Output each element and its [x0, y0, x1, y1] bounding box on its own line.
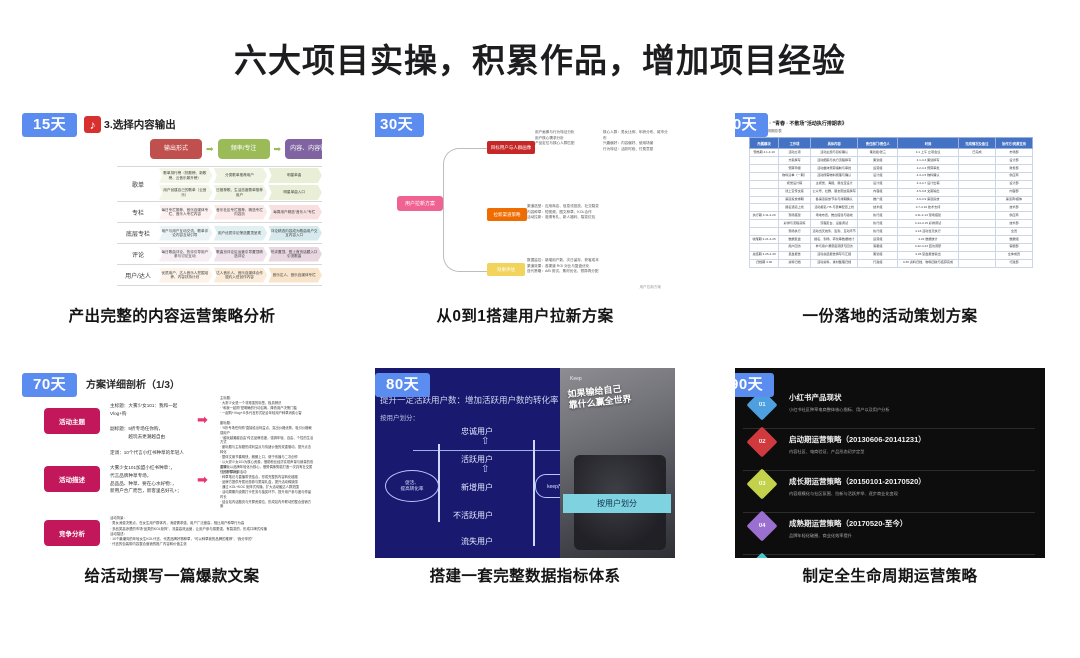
table-cell: 彩排与流程演练: [779, 220, 811, 228]
thumbnail-content-strategy[interactable]: 15天 ♪ 3.选择内容输出 输出形式 ➡ 频率/专注 ➡ 内容、内容需求: [22, 108, 322, 298]
table-cell: [958, 164, 995, 172]
mindmap-node-evaluation: 效果评估: [487, 263, 525, 276]
day-badge: 15天: [22, 113, 77, 137]
table-cell: 内容部: [995, 188, 1032, 196]
table-cell: [750, 204, 779, 212]
table-row: 渠道投放排期各渠道投放节奏与排期确认推广组4.6-4.9 渠道投放渠道商/媒体: [750, 196, 1033, 204]
arrow-icon: ➡: [206, 144, 214, 155]
tier-loyal-user: 忠诚用户: [461, 426, 493, 437]
tier-inactive-user: 不活跃用户: [453, 510, 493, 521]
table-row: 用户/达人 优质用户、达人音乐人挖掘培养、内容扶持计划 达人音乐人、音乐自媒体合…: [117, 264, 322, 286]
table-cell: 各渠道投放节奏与排期确认: [810, 196, 858, 204]
table-cell: 全体成员: [995, 251, 1032, 259]
table-cell: [958, 180, 995, 188]
middle-text: 大雾少女101加盟小红书种草：， 代言品牌种草专场， 品品品、种草、要在心水好物…: [110, 464, 192, 495]
card-30-days[interactable]: 30天 用户拉新方案 目标用户与人群画像 拉新渠道策略 效果评估 用户画像与行为…: [375, 108, 675, 298]
table-cell: 4.14-4.15 彩排调试: [898, 220, 959, 228]
annotation-oval: 促活、 提高转化率: [385, 470, 439, 502]
table-row: 底层专栏 用户与用户互动交流，歌单评论内容互动引导 用户优质评论筛选置顶呈现 评…: [117, 222, 322, 243]
table-cell: 4.21 数据统计: [898, 235, 959, 243]
table-cell: [958, 204, 995, 212]
keep-logo: Keep: [570, 376, 582, 382]
mindmap-footer: 用户拉新方案: [639, 285, 661, 290]
table-row: 预热期 4.1-4.10活动立项活动主题与目标确认策划组/张三4.1 上午 立项…: [750, 149, 1033, 157]
thumbnail-user-acquisition-mindmap[interactable]: 30天 用户拉新方案 目标用户与人群画像 拉新渠道策略 效果评估 用户画像与行为…: [375, 108, 675, 298]
table-cell: 4.30 资料归档、物料回收与结算完成: [898, 259, 959, 267]
table-header-row: 所属模块 工作项 具体内容 责任部门/责任人 时间 完成情况及备注 协作方/资源…: [750, 138, 1033, 149]
row-label: 底层专栏: [117, 223, 159, 243]
table-cell: 活动主题与目标确认: [810, 149, 858, 157]
day-badge: 80天: [375, 373, 430, 397]
table-cell: 执行组: [858, 228, 898, 236]
diamond-marker-icon: 03: [746, 468, 777, 499]
table-cell: 参与用户满意度调研与回访: [810, 243, 858, 251]
thumbnail-lifecycle-strategy[interactable]: 90天 01小红书产品现状小红书社区种草电商整体核心指标、用户以及用户分析02启…: [735, 368, 1045, 558]
mindmap-core-node: 用户拉新方案: [397, 196, 443, 211]
table-cell: 活动总结报告撰写与汇报: [810, 251, 858, 259]
table-cell: [958, 157, 995, 165]
row-label: 评论: [117, 244, 159, 264]
column-header: 责任部门/责任人: [858, 138, 898, 149]
table-cell: 4.5-4.8 文案输出: [898, 188, 959, 196]
list-item[interactable]: 03成长期运营策略（20150101-20170520）内容规模化与社区氛围、拉…: [743, 470, 1035, 512]
table-row: 收尾期 4.21-4.25数据复盘报名、到场、转化等数据统计运营组4.21 数据…: [750, 235, 1033, 243]
table-row: 归档期 4.30资料归档活动资料、素材整理归档行政组4.30 资料归档、物料回收…: [750, 259, 1033, 267]
table-cell: 4.3-4.5 物料确认: [898, 172, 959, 180]
tier-churned-user: 流失用户: [461, 536, 493, 547]
column-header: 工作项: [779, 138, 811, 149]
table-cell: 技术组: [858, 204, 898, 212]
table-cell: 客服部: [995, 243, 1032, 251]
table-row: 专栏 每日专栏推荐、音乐自媒体专栏、音乐人专栏内容 音乐社区专栏推荐、精选专栏内…: [117, 201, 322, 222]
table-cell: 线上宣传文案: [779, 188, 811, 196]
mindmap-text: 用户画像与行为特征分析 用户核心需求分析 产品定位与核心人群匹配: [535, 130, 595, 147]
chevron-cell: 每周用户精选“音乐人”专栏: [268, 205, 322, 220]
chevron-cell: 音乐达人、音乐自媒体专栏: [268, 268, 322, 283]
table-cell: [958, 228, 995, 236]
list-item-number: 01: [759, 402, 766, 408]
table-cell: 活动当天统筹、签到、互动环节: [810, 228, 858, 236]
thumbnail-copywriting-breakdown[interactable]: 70天 方案详细剖析（1/3） 活动主题 活动描述 竞争分析 主标题：大雾少女1…: [22, 368, 322, 558]
table-cell: 4.6-4.9 渠道投放: [898, 196, 959, 204]
table-cell: 数据组: [995, 235, 1032, 243]
tier-new-user: 新增用户: [461, 482, 493, 493]
photo-slogan: 如果输给自己 靠什么赢全世界: [567, 379, 670, 412]
card-80-days[interactable]: 80天 提升一定活跃用户数：增加活跃用户数的转化率 按用户划分： ⇧ ⇧ 忠诚用…: [375, 368, 675, 558]
table-cell: 主视觉、海报、易拉宝设计: [810, 180, 858, 188]
table-cell: 设计部: [995, 157, 1032, 165]
mindmap-text: 渠道选型：应用商店、信息流投放、社交裂变 内容种草：短视频、图文种草、KOL合作…: [527, 204, 667, 221]
table-cell: 4.16 活动当天执行: [898, 228, 959, 236]
row-label: 专栏: [117, 202, 159, 222]
table-cell: 报名通道上线: [779, 204, 811, 212]
table-cell: 用户回访: [779, 243, 811, 251]
table-cell: 已完成: [958, 149, 995, 157]
flow-box-content-need: 内容、内容需求: [285, 139, 322, 159]
chevron-cell: 评论精选内容成为歌曲用户交互内容入口: [268, 226, 322, 241]
pill-activity-description: 活动描述: [44, 466, 100, 492]
table-cell: 报名、到场、转化等数据统计: [810, 235, 858, 243]
slide-title: 方案详细剖析（1/3）: [86, 376, 180, 391]
schedule-table: 所属模块 工作项 具体内容 责任部门/责任人 时间 完成情况及备注 协作方/资源…: [749, 137, 1033, 268]
table-cell: 活动细案与执行流程撰写: [810, 157, 858, 165]
list-item-description: 内容社区、电商验证、产品形态初步定型: [789, 449, 1035, 455]
diamond-marker-icon: 05: [746, 552, 777, 558]
card-70-days[interactable]: 70天 方案详细剖析（1/3） 活动主题 活动描述 竞争分析 主标题：大雾少女1…: [22, 368, 322, 558]
tier-active-user: 活跃用户: [461, 454, 493, 465]
table-cell: 客服组: [858, 243, 898, 251]
row-label: 歌单: [117, 167, 159, 201]
table-cell: 执行期 4.11-4.20: [750, 212, 779, 220]
table-cell: 4.22-4.23 回访调研: [898, 243, 959, 251]
table-cell: 供应商: [995, 172, 1032, 180]
ribbon-label: 按用户划分: [563, 494, 671, 513]
card-caption: 一份落地的活动策划方案: [735, 304, 1045, 326]
table-cell: 财务部: [995, 164, 1032, 172]
card-90-days[interactable]: 90天 01小红书产品现状小红书社区种草电商整体核心指标、用户以及用户分析02启…: [735, 368, 1045, 558]
table-cell: 执行组: [858, 212, 898, 220]
chevron-cell: 用户优质评论筛选置顶呈现: [214, 226, 268, 241]
list-item[interactable]: 05总结与建议再次回顾小红书全周期用户与内容策略，提出可落地建议: [743, 554, 1035, 558]
table-row: 方案撰写活动细案与执行流程撰写策划组4.1-4.3 策划撰写设计部: [750, 157, 1033, 165]
netease-music-icon: ♪: [84, 116, 101, 133]
table-row: 彩排与流程演练流程走台、设备调试执行组4.14-4.15 彩排调试技术部: [750, 220, 1033, 228]
table-cell: 技术部: [995, 220, 1032, 228]
slide-page: 六大项目实操，积累作品，增加项目经验 15天 ♪ 3.选择内容输出 输出形式 ➡…: [0, 0, 1080, 658]
middle-text: 主标题：大雾少女101：我和一起Vlog+购 副标题：5折专场任你购， 越玩去更…: [110, 402, 192, 457]
card-15-days[interactable]: 15天 ♪ 3.选择内容输出 输出形式 ➡ 频率/专注 ➡ 内容、内容需求: [22, 108, 322, 298]
table-cell: 归档期 4.30: [750, 259, 779, 267]
chevron-cell: 明星单曲入口: [268, 185, 322, 200]
table-cell: 资料归档: [779, 259, 811, 267]
card-caption: 从0到1搭建用户拉新方案: [375, 304, 675, 326]
card-caption: 搭建一套完整数据指标体系: [375, 564, 675, 586]
chevron-cell: 每日专栏推荐、音乐自媒体专栏、音乐人专栏内容: [159, 205, 213, 220]
table-cell: [750, 188, 779, 196]
table-cell: [958, 243, 995, 251]
user-tier-diagram: ⇧ ⇧ 忠诚用户 活跃用户 新增用户 不活跃用户 流失用户 促活、 提高转化率 …: [383, 426, 588, 546]
table-cell: [958, 251, 995, 259]
table-row: 视觉设计稿主视觉、海报、易拉宝设计设计组4.4-4.7 设计出稿设计部: [750, 180, 1033, 188]
card-60-days[interactable]: 60天 《小鹿 · “青春 · 不散场”活动执行排期表》 活动执行排期总表 所属…: [735, 108, 1045, 298]
table-cell: 行政组: [858, 259, 898, 267]
table-cell: 现场执行: [779, 228, 811, 236]
table-cell: 供应商: [995, 212, 1032, 220]
chevron-cell: 分类歌单推荐用户: [214, 168, 268, 183]
spreadsheet: 《小鹿 · “青春 · 不散场”活动执行排期表》 活动执行排期总表 所属模块 工…: [749, 120, 1033, 290]
page-title: 六大项目实操，积累作品，增加项目经验: [0, 34, 1080, 82]
list-item-description: 品牌年轻化破圈、商业化效率提升: [789, 533, 1035, 539]
sheet-subtitle: 活动执行排期总表: [753, 129, 1033, 134]
list-item-heading: 启动期运营策略（20130606-20141231）: [789, 434, 1035, 445]
thumbnail-activity-schedule-sheet[interactable]: 60天 《小鹿 · “青春 · 不散场”活动执行排期表》 活动执行排期总表 所属…: [735, 108, 1045, 298]
table-row: 总结期 4.26-4.30复盘报告活动总结报告撰写与汇报策划组4.26 复盘报告…: [750, 251, 1033, 259]
chevron-cell: 用户创建自己的歌单（云音乐）: [159, 185, 213, 200]
card-caption: 制定全生命周期运营策略: [735, 564, 1045, 586]
mindmap-text: 数据监控：新增用户数、次日留存、获客成本 渠道效果：各渠道 ROI 对比与复盘优…: [527, 258, 657, 275]
table-cell: 收尾期 4.21-4.25: [750, 235, 779, 243]
chevron-cell: 达人音乐人、音乐自媒体合作邀约入驻创作内容: [214, 268, 268, 283]
axis-bar: [533, 440, 535, 546]
day-badge: 30天: [375, 113, 424, 137]
table-cell: 复盘报告: [779, 251, 811, 259]
table-cell: 内容组: [858, 188, 898, 196]
table-row: 歌单 歌单排行榜（热歌榜、新歌榜、云音乐飙升榜） 分类歌单推荐用户 明星单曲 用…: [117, 166, 322, 201]
mindmap-node-target-user: 目标用户与人群画像: [487, 141, 535, 154]
table-cell: 策划组: [858, 251, 898, 259]
arrow-icon: ➡: [197, 412, 208, 428]
table-cell: 活动资料、素材整理归档: [810, 259, 858, 267]
table-cell: [750, 243, 779, 251]
table-cell: 方案撰写: [779, 157, 811, 165]
list-item-number: 03: [759, 481, 766, 487]
table-cell: 设计部: [995, 180, 1032, 188]
diamond-marker-icon: 02: [746, 426, 777, 457]
card-caption: 给活动撰写一篇爆款文案: [22, 564, 322, 586]
mindmap-node-channel: 拉新渠道策略: [487, 208, 527, 221]
table-cell: 4.1-4.3 策划撰写: [898, 157, 959, 165]
table-cell: [750, 196, 779, 204]
table-row: 用户回访参与用户满意度调研与回访客服组4.22-4.23 回访调研客服部: [750, 243, 1033, 251]
table-cell: 现场搭建: [779, 212, 811, 220]
table-cell: 4.26 复盘报告输出: [898, 251, 959, 259]
table-cell: 执行组: [858, 220, 898, 228]
table-cell: 渠道商/媒体: [995, 196, 1032, 204]
photo-keep-ad: Keep 如果输给自己 靠什么赢全世界: [560, 368, 675, 558]
card-row-1: 15天 ♪ 3.选择内容输出 输出形式 ➡ 频率/专注 ➡ 内容、内容需求: [0, 108, 1080, 356]
row-label: 用户/达人: [117, 265, 159, 285]
pill-activity-theme: 活动主题: [44, 408, 100, 434]
table-cell: [750, 157, 779, 165]
table-cell: [750, 164, 779, 172]
column-header: 时间: [898, 138, 959, 149]
list-item-number: 02: [759, 439, 766, 445]
flow-box-output-form: 输出形式: [150, 139, 202, 159]
table-cell: 行政部: [995, 259, 1032, 267]
table-cell: 物料清单（一期）: [779, 172, 811, 180]
table-row: 评论 每日歌曲评论、热评引导用户参与讨论互动 歌曲页评论区运营引导置顶精选评论 …: [117, 243, 322, 264]
table-cell: 推广组: [858, 196, 898, 204]
slide-subhead: 按用户划分：: [380, 412, 419, 422]
mindmap-branch-line: [443, 148, 490, 272]
chevron-cell: 日推荐歌、生活态度歌单推荐用户: [214, 185, 268, 200]
table-cell: 活动整体预算编制与审批: [810, 164, 858, 172]
chevron-cell: 音乐社区专栏推荐、精选专栏内容页: [214, 205, 268, 220]
table-cell: 技术部: [995, 204, 1032, 212]
column-header: 具体内容: [810, 138, 858, 149]
table-row: 预算申报活动整体预算编制与审批运营组4.2-4.4 预算审批财务部: [750, 164, 1033, 172]
flow-box-frequency: 频率/专注: [218, 139, 270, 159]
table-cell: [958, 235, 995, 243]
day-badge: 70天: [22, 373, 77, 397]
list-item-heading: 成熟期运营策略（20170520-至今）: [789, 518, 1035, 529]
arrow-icon: ➡: [274, 144, 282, 155]
card-caption: 产出完整的内容运营策略分析: [22, 304, 322, 326]
table-cell: [958, 212, 995, 220]
arrow-icon: ➡: [197, 472, 208, 488]
table-cell: 设计组: [858, 180, 898, 188]
table-row: 现场执行活动当天统筹、签到、互动环节执行组4.16 活动当天执行全员: [750, 228, 1033, 236]
table-cell: 数据复盘: [779, 235, 811, 243]
flow-top-boxes: 输出形式 ➡ 频率/专注 ➡ 内容、内容需求: [150, 139, 322, 159]
list-item[interactable]: 01小红书产品现状小红书社区种草电商整体核心指标、用户以及用户分析: [743, 392, 1035, 428]
lifecycle-list: 01小红书产品现状小红书社区种草电商整体核心指标、用户以及用户分析02启动期运营…: [743, 392, 1035, 558]
list-item-number: 04: [759, 523, 766, 529]
table-cell: 预算申报: [779, 164, 811, 172]
table-cell: 策划组: [858, 157, 898, 165]
day-badge: 60天: [735, 113, 768, 137]
table-cell: 活动报名 H5 与表单配置上线: [810, 204, 858, 212]
table-cell: 4.11-4.13 现场搭建: [898, 212, 959, 220]
table-cell: 运营组: [858, 164, 898, 172]
table-cell: 视觉设计稿: [779, 180, 811, 188]
chevron-cell: 每日歌曲评论、热评引导用户参与讨论互动: [159, 247, 213, 262]
table-cell: [958, 259, 995, 267]
thumbnail-data-metrics[interactable]: 80天 提升一定活跃用户数：增加活跃用户数的转化率 按用户划分： ⇧ ⇧ 忠诚用…: [375, 368, 675, 558]
table-cell: 活动所需物料梳理与确认: [810, 172, 858, 180]
table-cell: 策划组/张三: [858, 149, 898, 157]
table-cell: 4.1 上午 立项会议: [898, 149, 959, 157]
chevron-cell: 热评置顶、登上首页话题入口引流歌曲: [268, 247, 322, 262]
table-cell: 活动立项: [779, 149, 811, 157]
table-cell: 场地布置、舞台搭建与验收: [810, 212, 858, 220]
table-cell: 总结期 4.26-4.30: [750, 251, 779, 259]
table-cell: 4.4-4.7 设计出稿: [898, 180, 959, 188]
table-cell: 4.7-4.10 技术支持: [898, 204, 959, 212]
list-item-description: 小红书社区种草电商整体核心指标、用户以及用户分析: [789, 407, 1035, 413]
pill-competitor-analysis: 竞争分析: [44, 520, 100, 546]
table-cell: 市场部: [995, 149, 1032, 157]
list-item-heading: 成长期运营策略（20150101-20170520）: [789, 476, 1035, 487]
column-header: 协作方/资源支持: [995, 138, 1032, 149]
table-row: 物料清单（一期）活动所需物料梳理与确认设计组4.3-4.5 物料确认供应商: [750, 172, 1033, 180]
list-item-heading: 小红书产品现状: [789, 392, 1035, 403]
table-cell: [750, 172, 779, 180]
table-row: 执行期 4.11-4.20现场搭建场地布置、舞台搭建与验收执行组4.11-4.1…: [750, 212, 1033, 220]
chevron-cell: 用户与用户互动交流，歌单评论内容互动引导: [159, 226, 213, 241]
table-cell: 设计组: [858, 172, 898, 180]
chevron-cell: 歌单排行榜（热歌榜、新歌榜、云音乐飙升榜）: [159, 168, 213, 183]
list-item[interactable]: 02启动期运营策略（20130606-20141231）内容社区、电商验证、产品…: [743, 428, 1035, 470]
chevron-cell: 歌曲页评论区运营引导置顶精选评论: [214, 247, 268, 262]
slide-title: 3.选择内容输出: [104, 117, 176, 132]
table-cell: 全员: [995, 228, 1032, 236]
card-grid: 15天 ♪ 3.选择内容输出 输出形式 ➡ 频率/专注 ➡ 内容、内容需求: [0, 108, 1080, 616]
table-cell: [958, 172, 995, 180]
slide-heading-row: ♪ 3.选择内容输出: [84, 116, 176, 133]
table-cell: [750, 180, 779, 188]
up-arrow-icon: ⇧: [481, 436, 489, 447]
table-cell: [750, 228, 779, 236]
table-row: 报名通道上线活动报名 H5 与表单配置上线技术组4.7-4.10 技术支持技术部: [750, 204, 1033, 212]
table-cell: [958, 220, 995, 228]
table-row: 线上宣传文案公众号、社群、朋友圈文案撰写内容组4.5-4.8 文案输出内容部: [750, 188, 1033, 196]
diamond-marker-icon: 04: [746, 510, 777, 541]
chevron-cell: 明星单曲: [268, 168, 322, 183]
sheet-title: 《小鹿 · “青春 · 不散场”活动执行排期表》: [753, 120, 1033, 127]
content-matrix-table: 歌单 歌单排行榜（热歌榜、新歌榜、云音乐飙升榜） 分类歌单推荐用户 明星单曲 用…: [117, 166, 322, 286]
table-cell: 运营组: [858, 235, 898, 243]
table-cell: [958, 196, 995, 204]
table-cell: 流程走台、设备调试: [810, 220, 858, 228]
table-cell: 渠道投放排期: [779, 196, 811, 204]
mindmap-text: 核心人群：男女比例、年龄分布、城市分布 兴趣偏好：内容偏好、使用场景 行为特征：…: [603, 130, 671, 152]
card-row-2: 70天 方案详细剖析（1/3） 活动主题 活动描述 竞争分析 主标题：大雾少女1…: [0, 368, 1080, 616]
table-cell: 公众号、社群、朋友圈文案撰写: [810, 188, 858, 196]
column-header: 所属模块: [750, 138, 779, 149]
table-cell: 预热期 4.1-4.10: [750, 149, 779, 157]
day-badge: 90天: [735, 373, 774, 397]
column-header: 完成情况及备注: [958, 138, 995, 149]
table-cell: 4.2-4.4 预算审批: [898, 164, 959, 172]
table-cell: [750, 220, 779, 228]
up-arrow-icon: ⇧: [481, 464, 489, 475]
list-item[interactable]: 04成熟期运营策略（20170520-至今）品牌年轻化破圈、商业化效率提升: [743, 512, 1035, 554]
list-item-description: 内容规模化与社区氛围、拉新与活跃并举、逐步商业化变现: [789, 491, 1035, 497]
chevron-cell: 优质用户、达人音乐人挖掘培养、内容扶持计划: [159, 268, 213, 283]
bottom-analysis-text: 活动背景： · 男女消费决策点，在女生用户群体内，消费需求强，用户广泛度高，相比…: [110, 516, 314, 548]
table-cell: [958, 188, 995, 196]
analysis-text: · 以大雾少女101为核心资源，借助粉丝经济实现声量与销量的双重转化 · 小红书…: [220, 460, 314, 509]
